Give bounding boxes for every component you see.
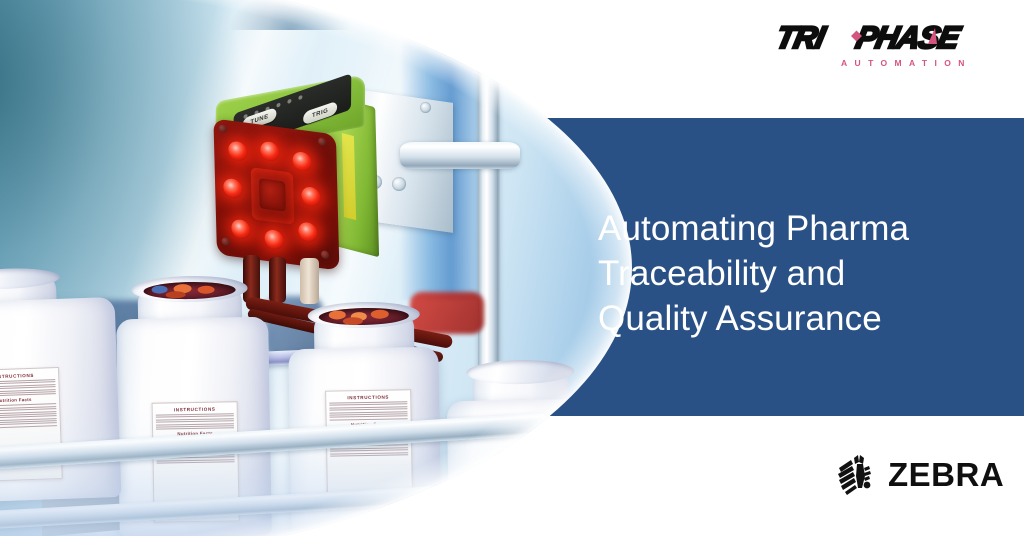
svg-text:PHASE: PHASE: [853, 22, 964, 55]
vertical-rail-cap: [478, 14, 500, 26]
zebra-head-icon: [836, 454, 880, 496]
capsule: [371, 310, 389, 319]
illumination-led-icon: [260, 141, 280, 163]
capsule: [166, 291, 186, 298]
zebra-logo[interactable]: ZEBRA: [836, 452, 992, 498]
status-led-icon: [287, 98, 291, 103]
tri-phase-tagline: AUTOMATION: [841, 58, 972, 68]
camera-lens-housing: [251, 167, 295, 225]
illumination-led-icon: [231, 218, 251, 240]
illumination-led-icon: [298, 221, 318, 243]
capsule: [329, 310, 346, 319]
background-red-cap: [410, 292, 484, 334]
status-led-icon: [298, 94, 302, 99]
illumination-led-icon: [228, 140, 248, 162]
illumination-led-icon: [292, 151, 312, 173]
face-screw-icon: [321, 250, 329, 259]
machine-vision-camera: TUNE TRIG ZEBRA: [213, 86, 378, 270]
status-led-icon: [276, 102, 280, 107]
illumination-led-icon: [301, 186, 321, 208]
face-screw-icon: [222, 237, 230, 246]
illumination-led-icon: [223, 177, 243, 199]
face-screw-icon: [318, 137, 326, 146]
camera-side-label: [342, 133, 356, 220]
camera-cable: [243, 255, 260, 303]
photo-top-shade: [230, 0, 350, 30]
camera-illumination-face: [213, 118, 339, 270]
bottle-label-lines: [0, 379, 56, 397]
mount-screw-icon: [392, 177, 406, 191]
tri-phase-automation-logo[interactable]: TRI PHASE AUTOMATION: [778, 22, 998, 80]
face-screw-icon: [219, 124, 227, 133]
photo-bottom-haze: [0, 406, 660, 536]
tri-phase-wordmark-icon: TRI PHASE: [778, 22, 998, 56]
zebra-wordmark: ZEBRA: [888, 458, 1004, 492]
camera-mount-bar: [400, 142, 520, 169]
capsule: [343, 317, 363, 325]
mount-screw-icon: [420, 102, 431, 113]
marketing-banner: TUNE TRIG ZEBRA: [0, 0, 1024, 536]
bottle-label-title: INSTRUCTIONS: [329, 393, 407, 401]
camera-cable: [269, 257, 286, 303]
svg-text:TRI: TRI: [778, 22, 830, 55]
photo-region: TUNE TRIG ZEBRA: [0, 0, 660, 536]
camera-lens: [259, 178, 286, 211]
capsule: [198, 286, 215, 294]
capsule: [152, 285, 168, 293]
page-title: Automating Pharma Traceability and Quali…: [598, 206, 998, 341]
camera-cable: [300, 258, 319, 304]
illumination-led-icon: [264, 229, 284, 251]
